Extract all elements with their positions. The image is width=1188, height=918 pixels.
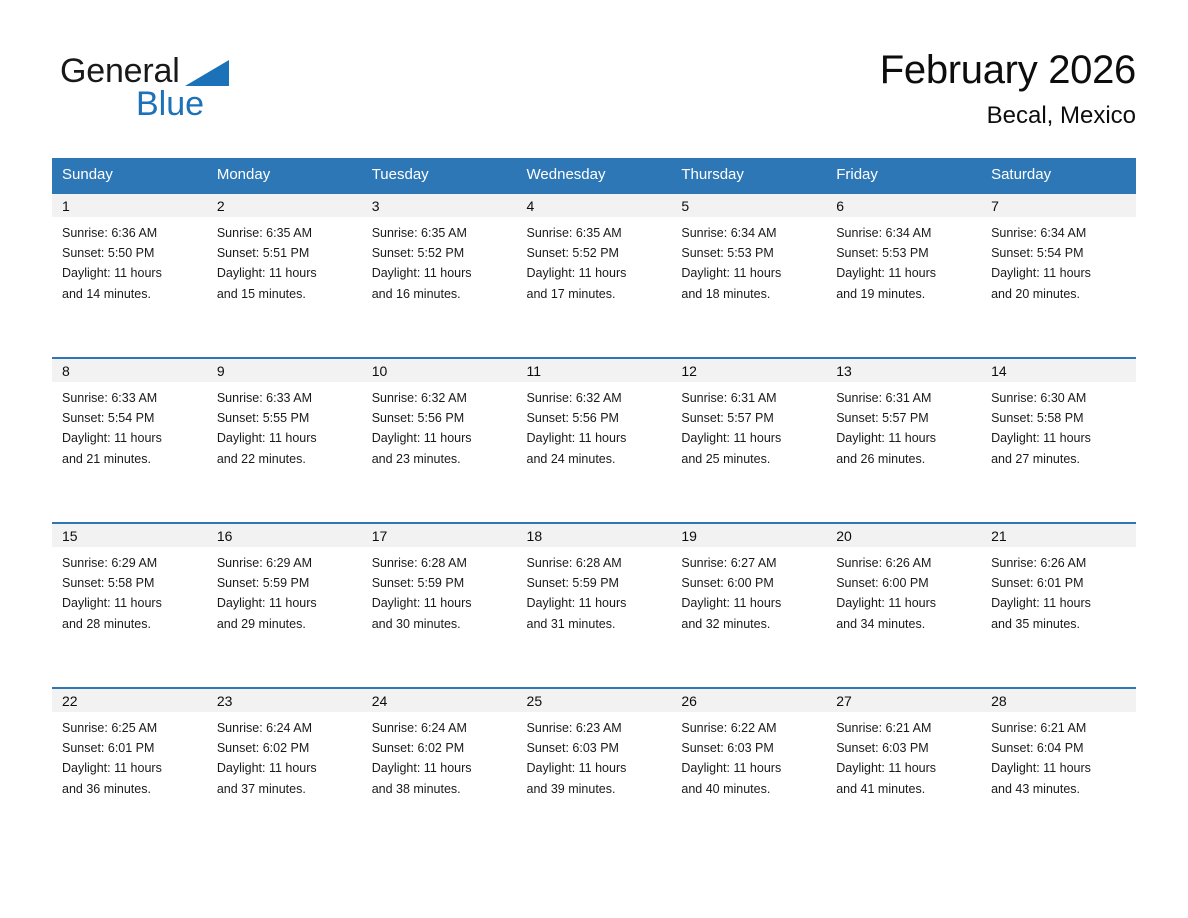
daylight-text-line1: Daylight: 11 hours xyxy=(217,263,354,283)
day-number: 24 xyxy=(362,689,517,712)
day-number: 7 xyxy=(981,194,1136,217)
calendar-body: 1 Sunrise: 6:36 AM Sunset: 5:50 PM Dayli… xyxy=(52,193,1136,853)
daylight-text-line2: and 16 minutes. xyxy=(372,284,509,304)
sunset-text: Sunset: 5:55 PM xyxy=(217,408,354,428)
sunset-text: Sunset: 5:52 PM xyxy=(527,243,664,263)
day-number: 16 xyxy=(207,524,362,547)
sunrise-text: Sunrise: 6:24 AM xyxy=(217,718,354,738)
day-number: 27 xyxy=(826,689,981,712)
day-cell[interactable]: 21 Sunrise: 6:26 AM Sunset: 6:01 PM Dayl… xyxy=(981,523,1136,688)
day-details: Sunrise: 6:31 AM Sunset: 5:57 PM Dayligh… xyxy=(826,382,981,469)
daylight-text-line2: and 35 minutes. xyxy=(991,614,1128,634)
day-number: 9 xyxy=(207,359,362,382)
day-details: Sunrise: 6:24 AM Sunset: 6:02 PM Dayligh… xyxy=(207,712,362,799)
daylight-text-line1: Daylight: 11 hours xyxy=(62,428,199,448)
day-number: 21 xyxy=(981,524,1136,547)
sunrise-text: Sunrise: 6:22 AM xyxy=(681,718,818,738)
calendar-week-row: 22 Sunrise: 6:25 AM Sunset: 6:01 PM Dayl… xyxy=(52,688,1136,853)
day-details: Sunrise: 6:27 AM Sunset: 6:00 PM Dayligh… xyxy=(671,547,826,634)
brand-logo-top: General xyxy=(60,54,360,88)
day-cell[interactable]: 12 Sunrise: 6:31 AM Sunset: 5:57 PM Dayl… xyxy=(671,358,826,523)
day-cell[interactable]: 25 Sunrise: 6:23 AM Sunset: 6:03 PM Dayl… xyxy=(517,688,672,853)
weekday-header-sunday: Sunday xyxy=(52,158,207,193)
day-number: 18 xyxy=(517,524,672,547)
sunrise-text: Sunrise: 6:35 AM xyxy=(372,223,509,243)
sunset-text: Sunset: 6:02 PM xyxy=(217,738,354,758)
sunset-text: Sunset: 6:01 PM xyxy=(62,738,199,758)
sunset-text: Sunset: 6:04 PM xyxy=(991,738,1128,758)
day-details: Sunrise: 6:25 AM Sunset: 6:01 PM Dayligh… xyxy=(52,712,207,799)
day-number: 23 xyxy=(207,689,362,712)
day-cell[interactable]: 23 Sunrise: 6:24 AM Sunset: 6:02 PM Dayl… xyxy=(207,688,362,853)
daylight-text-line2: and 24 minutes. xyxy=(527,449,664,469)
day-number: 28 xyxy=(981,689,1136,712)
day-details: Sunrise: 6:33 AM Sunset: 5:54 PM Dayligh… xyxy=(52,382,207,469)
day-cell[interactable]: 3 Sunrise: 6:35 AM Sunset: 5:52 PM Dayli… xyxy=(362,193,517,358)
sunrise-text: Sunrise: 6:31 AM xyxy=(681,388,818,408)
day-number: 13 xyxy=(826,359,981,382)
day-details: Sunrise: 6:34 AM Sunset: 5:53 PM Dayligh… xyxy=(671,217,826,304)
day-number: 11 xyxy=(517,359,672,382)
daylight-text-line1: Daylight: 11 hours xyxy=(836,593,973,613)
sunset-text: Sunset: 5:50 PM xyxy=(62,243,199,263)
sunset-text: Sunset: 6:03 PM xyxy=(527,738,664,758)
daylight-text-line1: Daylight: 11 hours xyxy=(372,263,509,283)
weekday-header-friday: Friday xyxy=(826,158,981,193)
daylight-text-line1: Daylight: 11 hours xyxy=(991,593,1128,613)
day-cell[interactable]: 6 Sunrise: 6:34 AM Sunset: 5:53 PM Dayli… xyxy=(826,193,981,358)
daylight-text-line2: and 28 minutes. xyxy=(62,614,199,634)
weekday-header-tuesday: Tuesday xyxy=(362,158,517,193)
page-title: February 2026 xyxy=(880,46,1136,94)
sunset-text: Sunset: 5:56 PM xyxy=(372,408,509,428)
day-details: Sunrise: 6:33 AM Sunset: 5:55 PM Dayligh… xyxy=(207,382,362,469)
day-number: 25 xyxy=(517,689,672,712)
daylight-text-line2: and 34 minutes. xyxy=(836,614,973,634)
daylight-text-line2: and 21 minutes. xyxy=(62,449,199,469)
day-details: Sunrise: 6:29 AM Sunset: 5:59 PM Dayligh… xyxy=(207,547,362,634)
day-number: 2 xyxy=(207,194,362,217)
sunset-text: Sunset: 5:53 PM xyxy=(836,243,973,263)
daylight-text-line1: Daylight: 11 hours xyxy=(372,758,509,778)
sunset-text: Sunset: 6:03 PM xyxy=(836,738,973,758)
daylight-text-line2: and 25 minutes. xyxy=(681,449,818,469)
sunrise-text: Sunrise: 6:28 AM xyxy=(372,553,509,573)
daylight-text-line2: and 43 minutes. xyxy=(991,779,1128,799)
sunrise-text: Sunrise: 6:35 AM xyxy=(527,223,664,243)
daylight-text-line1: Daylight: 11 hours xyxy=(836,758,973,778)
day-details: Sunrise: 6:36 AM Sunset: 5:50 PM Dayligh… xyxy=(52,217,207,304)
day-number: 12 xyxy=(671,359,826,382)
day-cell[interactable]: 18 Sunrise: 6:28 AM Sunset: 5:59 PM Dayl… xyxy=(517,523,672,688)
day-details: Sunrise: 6:28 AM Sunset: 5:59 PM Dayligh… xyxy=(517,547,672,634)
daylight-text-line2: and 32 minutes. xyxy=(681,614,818,634)
day-details: Sunrise: 6:21 AM Sunset: 6:04 PM Dayligh… xyxy=(981,712,1136,799)
daylight-text-line2: and 40 minutes. xyxy=(681,779,818,799)
sunrise-text: Sunrise: 6:32 AM xyxy=(372,388,509,408)
day-cell[interactable]: 7 Sunrise: 6:34 AM Sunset: 5:54 PM Dayli… xyxy=(981,193,1136,358)
day-details: Sunrise: 6:30 AM Sunset: 5:58 PM Dayligh… xyxy=(981,382,1136,469)
day-number: 8 xyxy=(52,359,207,382)
day-number: 6 xyxy=(826,194,981,217)
daylight-text-line1: Daylight: 11 hours xyxy=(62,593,199,613)
daylight-text-line2: and 14 minutes. xyxy=(62,284,199,304)
sunset-text: Sunset: 6:02 PM xyxy=(372,738,509,758)
daylight-text-line2: and 37 minutes. xyxy=(217,779,354,799)
sunset-text: Sunset: 6:03 PM xyxy=(681,738,818,758)
daylight-text-line2: and 38 minutes. xyxy=(372,779,509,799)
day-details: Sunrise: 6:29 AM Sunset: 5:58 PM Dayligh… xyxy=(52,547,207,634)
sunrise-text: Sunrise: 6:31 AM xyxy=(836,388,973,408)
day-number: 5 xyxy=(671,194,826,217)
daylight-text-line1: Daylight: 11 hours xyxy=(217,593,354,613)
weekday-header-thursday: Thursday xyxy=(671,158,826,193)
day-cell[interactable]: 19 Sunrise: 6:27 AM Sunset: 6:00 PM Dayl… xyxy=(671,523,826,688)
calendar-week-row: 8 Sunrise: 6:33 AM Sunset: 5:54 PM Dayli… xyxy=(52,358,1136,523)
sunset-text: Sunset: 5:58 PM xyxy=(991,408,1128,428)
day-details: Sunrise: 6:35 AM Sunset: 5:51 PM Dayligh… xyxy=(207,217,362,304)
sunset-text: Sunset: 5:52 PM xyxy=(372,243,509,263)
sunrise-text: Sunrise: 6:34 AM xyxy=(681,223,818,243)
day-cell[interactable]: 20 Sunrise: 6:26 AM Sunset: 6:00 PM Dayl… xyxy=(826,523,981,688)
day-cell[interactable]: 24 Sunrise: 6:24 AM Sunset: 6:02 PM Dayl… xyxy=(362,688,517,853)
brand-name-general: General xyxy=(60,52,180,90)
day-cell[interactable]: 13 Sunrise: 6:31 AM Sunset: 5:57 PM Dayl… xyxy=(826,358,981,523)
sunset-text: Sunset: 6:00 PM xyxy=(836,573,973,593)
day-details: Sunrise: 6:24 AM Sunset: 6:02 PM Dayligh… xyxy=(362,712,517,799)
day-cell[interactable]: 15 Sunrise: 6:29 AM Sunset: 5:58 PM Dayl… xyxy=(52,523,207,688)
daylight-text-line1: Daylight: 11 hours xyxy=(681,263,818,283)
daylight-text-line1: Daylight: 11 hours xyxy=(527,593,664,613)
day-details: Sunrise: 6:32 AM Sunset: 5:56 PM Dayligh… xyxy=(517,382,672,469)
day-details: Sunrise: 6:31 AM Sunset: 5:57 PM Dayligh… xyxy=(671,382,826,469)
day-cell[interactable]: 5 Sunrise: 6:34 AM Sunset: 5:53 PM Dayli… xyxy=(671,193,826,358)
daylight-text-line2: and 31 minutes. xyxy=(527,614,664,634)
daylight-text-line1: Daylight: 11 hours xyxy=(527,263,664,283)
day-cell[interactable]: 27 Sunrise: 6:21 AM Sunset: 6:03 PM Dayl… xyxy=(826,688,981,853)
daylight-text-line1: Daylight: 11 hours xyxy=(991,428,1128,448)
day-details: Sunrise: 6:23 AM Sunset: 6:03 PM Dayligh… xyxy=(517,712,672,799)
sunrise-text: Sunrise: 6:24 AM xyxy=(372,718,509,738)
daylight-text-line1: Daylight: 11 hours xyxy=(681,758,818,778)
sunrise-text: Sunrise: 6:28 AM xyxy=(527,553,664,573)
weekday-header-saturday: Saturday xyxy=(981,158,1136,193)
daylight-text-line2: and 36 minutes. xyxy=(62,779,199,799)
day-number: 1 xyxy=(52,194,207,217)
sunrise-text: Sunrise: 6:34 AM xyxy=(991,223,1128,243)
sunrise-text: Sunrise: 6:36 AM xyxy=(62,223,199,243)
weekday-header-monday: Monday xyxy=(207,158,362,193)
brand-logo[interactable]: General Blue xyxy=(60,54,360,134)
day-details: Sunrise: 6:22 AM Sunset: 6:03 PM Dayligh… xyxy=(671,712,826,799)
sunrise-text: Sunrise: 6:26 AM xyxy=(991,553,1128,573)
sunrise-text: Sunrise: 6:33 AM xyxy=(62,388,199,408)
sunset-text: Sunset: 5:51 PM xyxy=(217,243,354,263)
sunset-text: Sunset: 5:59 PM xyxy=(217,573,354,593)
day-details: Sunrise: 6:26 AM Sunset: 6:01 PM Dayligh… xyxy=(981,547,1136,634)
day-number: 10 xyxy=(362,359,517,382)
daylight-text-line2: and 17 minutes. xyxy=(527,284,664,304)
daylight-text-line1: Daylight: 11 hours xyxy=(62,758,199,778)
calendar-header-row: Sunday Monday Tuesday Wednesday Thursday… xyxy=(52,158,1136,193)
day-details: Sunrise: 6:34 AM Sunset: 5:53 PM Dayligh… xyxy=(826,217,981,304)
sunrise-text: Sunrise: 6:21 AM xyxy=(991,718,1128,738)
daylight-text-line2: and 41 minutes. xyxy=(836,779,973,799)
day-number: 15 xyxy=(52,524,207,547)
day-details: Sunrise: 6:34 AM Sunset: 5:54 PM Dayligh… xyxy=(981,217,1136,304)
daylight-text-line1: Daylight: 11 hours xyxy=(527,428,664,448)
title-block: February 2026 Becal, Mexico xyxy=(880,46,1136,130)
sunrise-text: Sunrise: 6:21 AM xyxy=(836,718,973,738)
sunrise-text: Sunrise: 6:29 AM xyxy=(62,553,199,573)
sunset-text: Sunset: 5:56 PM xyxy=(527,408,664,428)
sunrise-text: Sunrise: 6:29 AM xyxy=(217,553,354,573)
daylight-text-line2: and 30 minutes. xyxy=(372,614,509,634)
sunrise-sunset-calendar: Sunday Monday Tuesday Wednesday Thursday… xyxy=(52,158,1136,853)
sunset-text: Sunset: 5:57 PM xyxy=(836,408,973,428)
daylight-text-line1: Daylight: 11 hours xyxy=(991,263,1128,283)
sunset-text: Sunset: 5:57 PM xyxy=(681,408,818,428)
day-number: 4 xyxy=(517,194,672,217)
page-subtitle: Becal, Mexico xyxy=(880,102,1136,130)
day-cell[interactable]: 1 Sunrise: 6:36 AM Sunset: 5:50 PM Dayli… xyxy=(52,193,207,358)
sunset-text: Sunset: 6:00 PM xyxy=(681,573,818,593)
daylight-text-line2: and 29 minutes. xyxy=(217,614,354,634)
day-cell[interactable]: 16 Sunrise: 6:29 AM Sunset: 5:59 PM Dayl… xyxy=(207,523,362,688)
daylight-text-line2: and 19 minutes. xyxy=(836,284,973,304)
daylight-text-line2: and 23 minutes. xyxy=(372,449,509,469)
day-details: Sunrise: 6:35 AM Sunset: 5:52 PM Dayligh… xyxy=(362,217,517,304)
day-number: 19 xyxy=(671,524,826,547)
sunset-text: Sunset: 6:01 PM xyxy=(991,573,1128,593)
daylight-text-line2: and 18 minutes. xyxy=(681,284,818,304)
sunset-text: Sunset: 5:59 PM xyxy=(527,573,664,593)
sunrise-text: Sunrise: 6:34 AM xyxy=(836,223,973,243)
brand-name-blue: Blue xyxy=(136,86,360,122)
daylight-text-line2: and 20 minutes. xyxy=(991,284,1128,304)
daylight-text-line2: and 27 minutes. xyxy=(991,449,1128,469)
day-details: Sunrise: 6:32 AM Sunset: 5:56 PM Dayligh… xyxy=(362,382,517,469)
sunset-text: Sunset: 5:59 PM xyxy=(372,573,509,593)
daylight-text-line1: Daylight: 11 hours xyxy=(217,428,354,448)
calendar-week-row: 15 Sunrise: 6:29 AM Sunset: 5:58 PM Dayl… xyxy=(52,523,1136,688)
day-cell[interactable]: 10 Sunrise: 6:32 AM Sunset: 5:56 PM Dayl… xyxy=(362,358,517,523)
day-cell[interactable]: 28 Sunrise: 6:21 AM Sunset: 6:04 PM Dayl… xyxy=(981,688,1136,853)
day-cell[interactable]: 2 Sunrise: 6:35 AM Sunset: 5:51 PM Dayli… xyxy=(207,193,362,358)
day-number: 22 xyxy=(52,689,207,712)
day-cell[interactable]: 14 Sunrise: 6:30 AM Sunset: 5:58 PM Dayl… xyxy=(981,358,1136,523)
calendar-page: General Blue February 2026 Becal, Mexico… xyxy=(0,0,1188,918)
day-number: 26 xyxy=(671,689,826,712)
sunrise-text: Sunrise: 6:32 AM xyxy=(527,388,664,408)
sunrise-text: Sunrise: 6:25 AM xyxy=(62,718,199,738)
day-cell[interactable]: 26 Sunrise: 6:22 AM Sunset: 6:03 PM Dayl… xyxy=(671,688,826,853)
daylight-text-line2: and 22 minutes. xyxy=(217,449,354,469)
daylight-text-line2: and 26 minutes. xyxy=(836,449,973,469)
day-cell[interactable]: 4 Sunrise: 6:35 AM Sunset: 5:52 PM Dayli… xyxy=(517,193,672,358)
sunrise-text: Sunrise: 6:33 AM xyxy=(217,388,354,408)
daylight-text-line1: Daylight: 11 hours xyxy=(527,758,664,778)
day-details: Sunrise: 6:35 AM Sunset: 5:52 PM Dayligh… xyxy=(517,217,672,304)
sunset-text: Sunset: 5:58 PM xyxy=(62,573,199,593)
brand-triangle-icon xyxy=(185,60,229,86)
day-number: 20 xyxy=(826,524,981,547)
sunrise-text: Sunrise: 6:26 AM xyxy=(836,553,973,573)
sunrise-text: Sunrise: 6:27 AM xyxy=(681,553,818,573)
sunrise-text: Sunrise: 6:30 AM xyxy=(991,388,1128,408)
sunrise-text: Sunrise: 6:23 AM xyxy=(527,718,664,738)
day-cell[interactable]: 17 Sunrise: 6:28 AM Sunset: 5:59 PM Dayl… xyxy=(362,523,517,688)
day-number: 3 xyxy=(362,194,517,217)
weekday-header-wednesday: Wednesday xyxy=(517,158,672,193)
day-details: Sunrise: 6:28 AM Sunset: 5:59 PM Dayligh… xyxy=(362,547,517,634)
daylight-text-line1: Daylight: 11 hours xyxy=(372,428,509,448)
day-number: 14 xyxy=(981,359,1136,382)
sunset-text: Sunset: 5:54 PM xyxy=(62,408,199,428)
daylight-text-line1: Daylight: 11 hours xyxy=(836,263,973,283)
document-header: General Blue February 2026 Becal, Mexico xyxy=(52,46,1136,146)
daylight-text-line1: Daylight: 11 hours xyxy=(62,263,199,283)
sunrise-text: Sunrise: 6:35 AM xyxy=(217,223,354,243)
daylight-text-line1: Daylight: 11 hours xyxy=(681,593,818,613)
day-details: Sunrise: 6:26 AM Sunset: 6:00 PM Dayligh… xyxy=(826,547,981,634)
day-cell[interactable]: 9 Sunrise: 6:33 AM Sunset: 5:55 PM Dayli… xyxy=(207,358,362,523)
sunset-text: Sunset: 5:54 PM xyxy=(991,243,1128,263)
day-cell[interactable]: 11 Sunrise: 6:32 AM Sunset: 5:56 PM Dayl… xyxy=(517,358,672,523)
day-cell[interactable]: 8 Sunrise: 6:33 AM Sunset: 5:54 PM Dayli… xyxy=(52,358,207,523)
daylight-text-line2: and 39 minutes. xyxy=(527,779,664,799)
daylight-text-line1: Daylight: 11 hours xyxy=(217,758,354,778)
daylight-text-line1: Daylight: 11 hours xyxy=(991,758,1128,778)
daylight-text-line1: Daylight: 11 hours xyxy=(372,593,509,613)
day-number: 17 xyxy=(362,524,517,547)
day-details: Sunrise: 6:21 AM Sunset: 6:03 PM Dayligh… xyxy=(826,712,981,799)
day-cell[interactable]: 22 Sunrise: 6:25 AM Sunset: 6:01 PM Dayl… xyxy=(52,688,207,853)
daylight-text-line1: Daylight: 11 hours xyxy=(681,428,818,448)
daylight-text-line1: Daylight: 11 hours xyxy=(836,428,973,448)
calendar-week-row: 1 Sunrise: 6:36 AM Sunset: 5:50 PM Dayli… xyxy=(52,193,1136,358)
daylight-text-line2: and 15 minutes. xyxy=(217,284,354,304)
sunset-text: Sunset: 5:53 PM xyxy=(681,243,818,263)
